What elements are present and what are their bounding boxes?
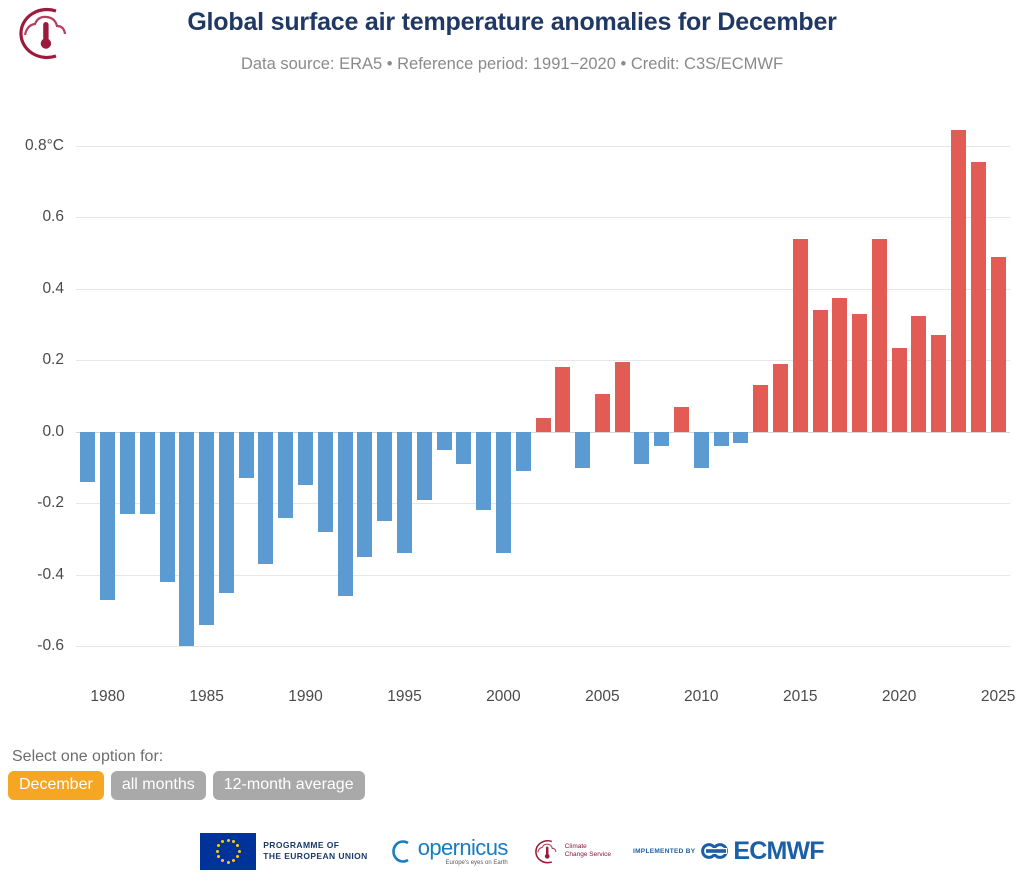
bar-2001 (516, 432, 531, 471)
bar-2016 (813, 310, 828, 432)
bar-1994 (377, 432, 392, 521)
x-axis-tick-label: 2000 (486, 688, 520, 706)
implemented-by-label: IMPLEMENTED BY (633, 848, 695, 855)
y-axis-tick-label: 0.6 (42, 208, 64, 226)
x-axis-tick-label: 2015 (783, 688, 817, 706)
copernicus-logo-block: opernicus Europe's eyes on Earth (390, 837, 508, 866)
c3s-footer-text: Climate Change Service (565, 843, 611, 860)
bar-1988 (258, 432, 273, 564)
eu-star-icon (217, 855, 220, 858)
bar-1985 (199, 432, 214, 625)
eu-star-icon (236, 844, 239, 847)
eu-text-line1: PROGRAMME OF (263, 840, 368, 851)
x-axis-labels: 1980198519901995200020052010201520202025 (76, 688, 1010, 714)
option-button-december[interactable]: December (8, 771, 104, 800)
footer-logos: PROGRAMME OF THE EUROPEAN UNION opernicu… (0, 826, 1024, 876)
eu-logo-block: PROGRAMME OF THE EUROPEAN UNION (200, 833, 368, 870)
bar-1993 (357, 432, 372, 557)
x-axis-tick-label: 2020 (882, 688, 916, 706)
bar-2017 (832, 298, 847, 432)
bar-2010 (694, 432, 709, 468)
bar-2024 (971, 162, 986, 432)
chart-plot-area (76, 110, 1010, 675)
eu-flag-icon (200, 833, 256, 870)
chart-header: Global surface air temperature anomalies… (0, 0, 1024, 92)
bar-1992 (338, 432, 353, 596)
x-axis-tick-label: 2005 (585, 688, 619, 706)
x-axis-tick-label: 2010 (684, 688, 718, 706)
bar-2025 (991, 257, 1006, 432)
eu-star-icon (217, 844, 220, 847)
ecmwf-glyph-icon (701, 841, 731, 861)
bar-1984 (179, 432, 194, 647)
option-buttons: Decemberall months12-month average (8, 771, 608, 800)
c3s-footer-logo-block: Climate Change Service (530, 837, 611, 866)
bar-series (76, 110, 1010, 675)
y-axis-tick-label: 0.8°C (25, 137, 64, 155)
c3s-text-line2: Change Service (565, 851, 611, 859)
eu-star-icon (221, 840, 224, 843)
copernicus-c-icon (390, 838, 411, 865)
eu-star-icon (227, 861, 230, 864)
ecmwf-logo-block: IMPLEMENTED BY ECMWF (633, 839, 824, 864)
bar-2019 (872, 239, 887, 432)
eu-star-icon (232, 840, 235, 843)
c3s-text-line1: Climate (565, 843, 611, 851)
ecmwf-text: ECMWF (733, 839, 823, 864)
bar-2011 (714, 432, 729, 446)
option-button-all-months[interactable]: all months (111, 771, 206, 800)
c3s-footer-icon (530, 837, 560, 866)
bar-1989 (278, 432, 293, 518)
eu-star-icon (238, 850, 241, 853)
bar-1998 (456, 432, 471, 464)
copernicus-wordmark: opernicus Europe's eyes on Earth (418, 837, 508, 866)
eu-star-icon (221, 859, 224, 862)
bar-2006 (615, 362, 630, 432)
bar-2005 (595, 394, 610, 432)
y-axis-tick-label: -0.4 (37, 566, 64, 584)
y-axis-tick-label: -0.2 (37, 494, 64, 512)
eu-logo-text: PROGRAMME OF THE EUROPEAN UNION (263, 840, 368, 862)
eu-star-icon (216, 850, 219, 853)
chart-subtitle: Data source: ERA5 • Reference period: 19… (0, 55, 1024, 74)
bar-2000 (496, 432, 511, 554)
bar-1980 (100, 432, 115, 600)
bar-2023 (951, 130, 966, 432)
x-axis-tick-label: 1995 (387, 688, 421, 706)
bar-1981 (120, 432, 135, 514)
bar-1987 (239, 432, 254, 478)
bar-2003 (555, 367, 570, 431)
bar-1982 (140, 432, 155, 514)
bar-2018 (852, 314, 867, 432)
eu-text-line2: THE EUROPEAN UNION (263, 851, 368, 862)
bar-2021 (911, 316, 926, 432)
bar-2008 (654, 432, 669, 446)
bar-2004 (575, 432, 590, 468)
bar-2022 (931, 335, 946, 432)
y-axis-tick-label: 0.2 (42, 351, 64, 369)
bar-1986 (219, 432, 234, 593)
y-axis-tick-label: -0.6 (37, 637, 64, 655)
y-axis-tick-label: 0.0 (42, 423, 64, 441)
bar-1990 (298, 432, 313, 486)
ecmwf-wordmark: ECMWF (701, 839, 823, 864)
bar-2002 (536, 418, 551, 432)
eu-star-icon (232, 859, 235, 862)
x-axis-tick-label: 1985 (189, 688, 223, 706)
bar-2007 (634, 432, 649, 464)
bar-1979 (80, 432, 95, 482)
bar-1997 (437, 432, 452, 450)
copernicus-tagline: Europe's eyes on Earth (418, 860, 508, 866)
bar-1999 (476, 432, 491, 511)
bar-2013 (753, 385, 768, 431)
eu-star-icon (236, 855, 239, 858)
x-axis-tick-label: 1980 (90, 688, 124, 706)
bar-2015 (793, 239, 808, 432)
bar-2014 (773, 364, 788, 432)
bar-2012 (733, 432, 748, 443)
option-button-12-month-average[interactable]: 12-month average (213, 771, 365, 800)
bar-1996 (417, 432, 432, 500)
select-option-label: Select one option for: (8, 748, 608, 766)
bar-2020 (892, 348, 907, 432)
page-title: Global surface air temperature anomalies… (0, 8, 1024, 37)
option-selector: Select one option for: Decemberall month… (8, 748, 608, 800)
y-axis-labels: 0.8°C0.60.40.20.0-0.2-0.4-0.6 (0, 110, 70, 675)
x-axis-tick-label: 2025 (981, 688, 1015, 706)
eu-star-icon (227, 839, 230, 842)
bar-2009 (674, 407, 689, 432)
bar-1983 (160, 432, 175, 582)
x-axis-tick-label: 1990 (288, 688, 322, 706)
bar-1995 (397, 432, 412, 554)
y-axis-tick-label: 0.4 (42, 280, 64, 298)
copernicus-text: opernicus (418, 835, 508, 860)
bar-1991 (318, 432, 333, 532)
